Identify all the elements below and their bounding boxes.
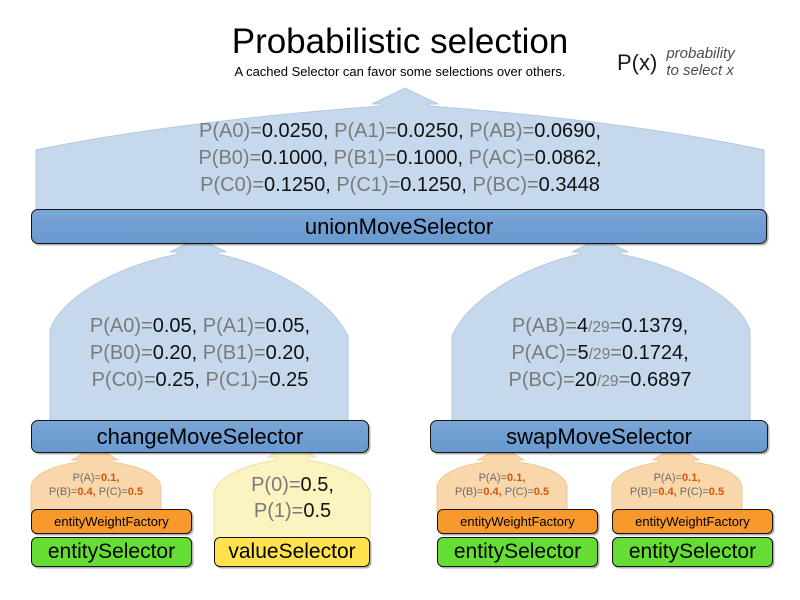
probability-label: P(B)=: [630, 486, 658, 498]
probability-label: P(C1)=: [206, 369, 270, 391]
probability-label: P(AB)=: [469, 120, 534, 142]
probability-value: 0.25: [269, 369, 308, 391]
node-entity-weight-factory-2-label: entityWeightFactory: [460, 514, 575, 529]
node-entity-selector-3-label: entitySelector: [629, 540, 756, 564]
equals-sign: =: [619, 369, 631, 391]
probability-value: 0.1724,: [622, 342, 689, 364]
probability-label: P(B)=: [49, 486, 77, 498]
node-union-move-selector-label: unionMoveSelector: [305, 214, 493, 240]
node-change-move-selector-label: changeMoveSelector: [97, 424, 304, 450]
probability-value: 0.0250,: [262, 120, 329, 142]
change-arch-probabilities: P(A0)=0.05, P(A1)=0.05,P(B0)=0.20, P(B1)…: [30, 313, 370, 393]
probability-label: P(C0)=: [200, 174, 264, 196]
probability-label: P(B0)=: [90, 342, 153, 364]
probability-label: P(A)=: [73, 472, 101, 484]
node-entity-selector-2[interactable]: entitySelector: [437, 537, 598, 567]
node-entity-weight-factory-3[interactable]: entityWeightFactory: [612, 509, 773, 534]
node-entity-weight-factory-2[interactable]: entityWeightFactory: [437, 509, 598, 534]
probability-line: P(AB)=4/29=0.1379,: [430, 313, 770, 340]
probability-line: P(C0)=0.25, P(C1)=0.25: [30, 367, 370, 394]
equals-sign: =: [610, 315, 622, 337]
probability-label: P(B0)=: [198, 147, 261, 169]
entity-weight-probabilities-1: P(A)=0.1,P(B)=0.4, P(C)=0.5: [31, 471, 161, 500]
union-arch-probabilities: P(A0)=0.0250, P(A1)=0.0250, P(AB)=0.0690…: [0, 118, 800, 198]
probability-value: 0.4,: [658, 486, 676, 498]
probability-value: 0.05,: [153, 315, 197, 337]
legend-description-line2: to select x: [666, 63, 734, 80]
equals-sign: =: [610, 342, 622, 364]
node-value-selector[interactable]: valueSelector: [214, 537, 370, 567]
probability-line: P(A)=0.1,: [31, 471, 161, 485]
probability-label: P(C)=: [680, 486, 709, 498]
fraction-denominator: /29: [588, 319, 610, 336]
probability-label: P(B1)=: [334, 147, 397, 169]
probability-value: 0.4,: [483, 486, 501, 498]
probability-label: P(BC)=: [509, 369, 575, 391]
probability-label: P(A1)=: [203, 315, 266, 337]
probability-label: P(AB)=: [512, 315, 577, 337]
node-entity-selector-1[interactable]: entitySelector: [31, 537, 192, 567]
node-entity-weight-factory-3-label: entityWeightFactory: [635, 514, 750, 529]
probability-label: P(A)=: [479, 472, 507, 484]
probabilistic-selection-diagram: Probabilistic selection A cached Selecto…: [0, 0, 800, 600]
node-entity-weight-factory-1-label: entityWeightFactory: [54, 514, 169, 529]
probability-value: 0.1,: [682, 472, 700, 484]
probability-value: 0.20,: [153, 342, 197, 364]
node-change-move-selector[interactable]: changeMoveSelector: [31, 420, 369, 453]
probability-value: 0.5: [128, 486, 143, 498]
probability-label: P(A0)=: [199, 120, 262, 142]
probability-value: 0.1250,: [400, 174, 467, 196]
probability-value: 0.1250,: [264, 174, 331, 196]
node-entity-selector-2-label: entitySelector: [454, 540, 581, 564]
probability-value: 0.6897: [630, 369, 691, 391]
probability-line: P(B0)=0.1000, P(B1)=0.1000, P(AC)=0.0862…: [0, 145, 800, 172]
entity-weight-probabilities-3: P(A)=0.1,P(B)=0.4, P(C)=0.5: [612, 471, 742, 500]
probability-label: P(B)=: [455, 486, 483, 498]
entity-weight-probabilities-2: P(A)=0.1,P(B)=0.4, P(C)=0.5: [437, 471, 567, 500]
probability-value: 0.4,: [77, 486, 95, 498]
probability-label: P(C1)=: [336, 174, 400, 196]
node-union-move-selector[interactable]: unionMoveSelector: [31, 209, 767, 244]
probability-label: P(C)=: [99, 486, 128, 498]
node-entity-weight-factory-1[interactable]: entityWeightFactory: [31, 509, 192, 534]
legend-description: probability to select x: [666, 46, 734, 80]
probability-label: P(A1)=: [334, 120, 397, 142]
probability-line: P(A0)=0.05, P(A1)=0.05,: [30, 313, 370, 340]
probability-value: 0.5,: [301, 474, 334, 496]
node-swap-move-selector-label: swapMoveSelector: [506, 424, 692, 450]
probability-label: P(BC)=: [473, 174, 539, 196]
probability-value: 0.0690,: [534, 120, 601, 142]
probability-value: 0.5: [709, 486, 724, 498]
probability-label: P(C)=: [505, 486, 534, 498]
legend-description-line1: probability: [666, 46, 734, 63]
probability-line: P(A0)=0.0250, P(A1)=0.0250, P(AB)=0.0690…: [0, 118, 800, 145]
node-entity-selector-3[interactable]: entitySelector: [612, 537, 773, 567]
value-arch-probabilities: P(0)=0.5,P(1)=0.5: [205, 472, 380, 524]
probability-label: P(0)=: [251, 474, 300, 496]
probability-label: P(AC)=: [469, 147, 535, 169]
probability-line: P(C0)=0.1250, P(C1)=0.1250, P(BC)=0.3448: [0, 172, 800, 199]
probability-line: P(A)=0.1,: [612, 471, 742, 485]
probability-label: P(A0)=: [90, 315, 153, 337]
probability-line: P(1)=0.5: [205, 498, 380, 524]
fraction-numerator: 20: [575, 369, 597, 391]
node-swap-move-selector[interactable]: swapMoveSelector: [430, 420, 768, 453]
probability-value: 0.5: [303, 500, 331, 522]
fraction-denominator: /29: [589, 346, 611, 363]
probability-label: P(B1)=: [203, 342, 266, 364]
probability-value: 0.1000,: [396, 147, 463, 169]
probability-label: P(C0)=: [92, 369, 156, 391]
probability-label: P(A)=: [654, 472, 682, 484]
probability-value: 0.1,: [507, 472, 525, 484]
legend-symbol: P(x): [617, 50, 657, 76]
fraction-denominator: /29: [597, 373, 619, 390]
probability-value: 0.1,: [101, 472, 119, 484]
probability-value: 0.20,: [266, 342, 310, 364]
node-entity-selector-1-label: entitySelector: [48, 540, 175, 564]
swap-arch-probabilities: P(AB)=4/29=0.1379,P(AC)=5/29=0.1724,P(BC…: [430, 313, 770, 393]
probability-line: P(A)=0.1,: [437, 471, 567, 485]
legend: P(x) probability to select x: [617, 46, 735, 80]
fraction-numerator: 5: [577, 342, 588, 364]
probability-value: 0.5: [534, 486, 549, 498]
probability-line: P(0)=0.5,: [205, 472, 380, 498]
probability-value: 0.05,: [266, 315, 310, 337]
probability-value: 0.0862,: [535, 147, 602, 169]
probability-line: P(B0)=0.20, P(B1)=0.20,: [30, 340, 370, 367]
probability-line: P(B)=0.4, P(C)=0.5: [437, 485, 567, 499]
probability-line: P(B)=0.4, P(C)=0.5: [31, 485, 161, 499]
probability-value: 0.1379,: [621, 315, 688, 337]
probability-value: 0.1000,: [261, 147, 328, 169]
probability-value: 0.3448: [539, 174, 600, 196]
probability-label: P(1)=: [254, 500, 303, 522]
probability-label: P(AC)=: [511, 342, 577, 364]
probability-line: P(B)=0.4, P(C)=0.5: [612, 485, 742, 499]
probability-line: P(AC)=5/29=0.1724,: [430, 340, 770, 367]
fraction-numerator: 4: [577, 315, 588, 337]
probability-value: 0.0250,: [397, 120, 464, 142]
probability-value: 0.25,: [156, 369, 200, 391]
probability-line: P(BC)=20/29=0.6897: [430, 367, 770, 394]
node-value-selector-label: valueSelector: [228, 540, 355, 564]
